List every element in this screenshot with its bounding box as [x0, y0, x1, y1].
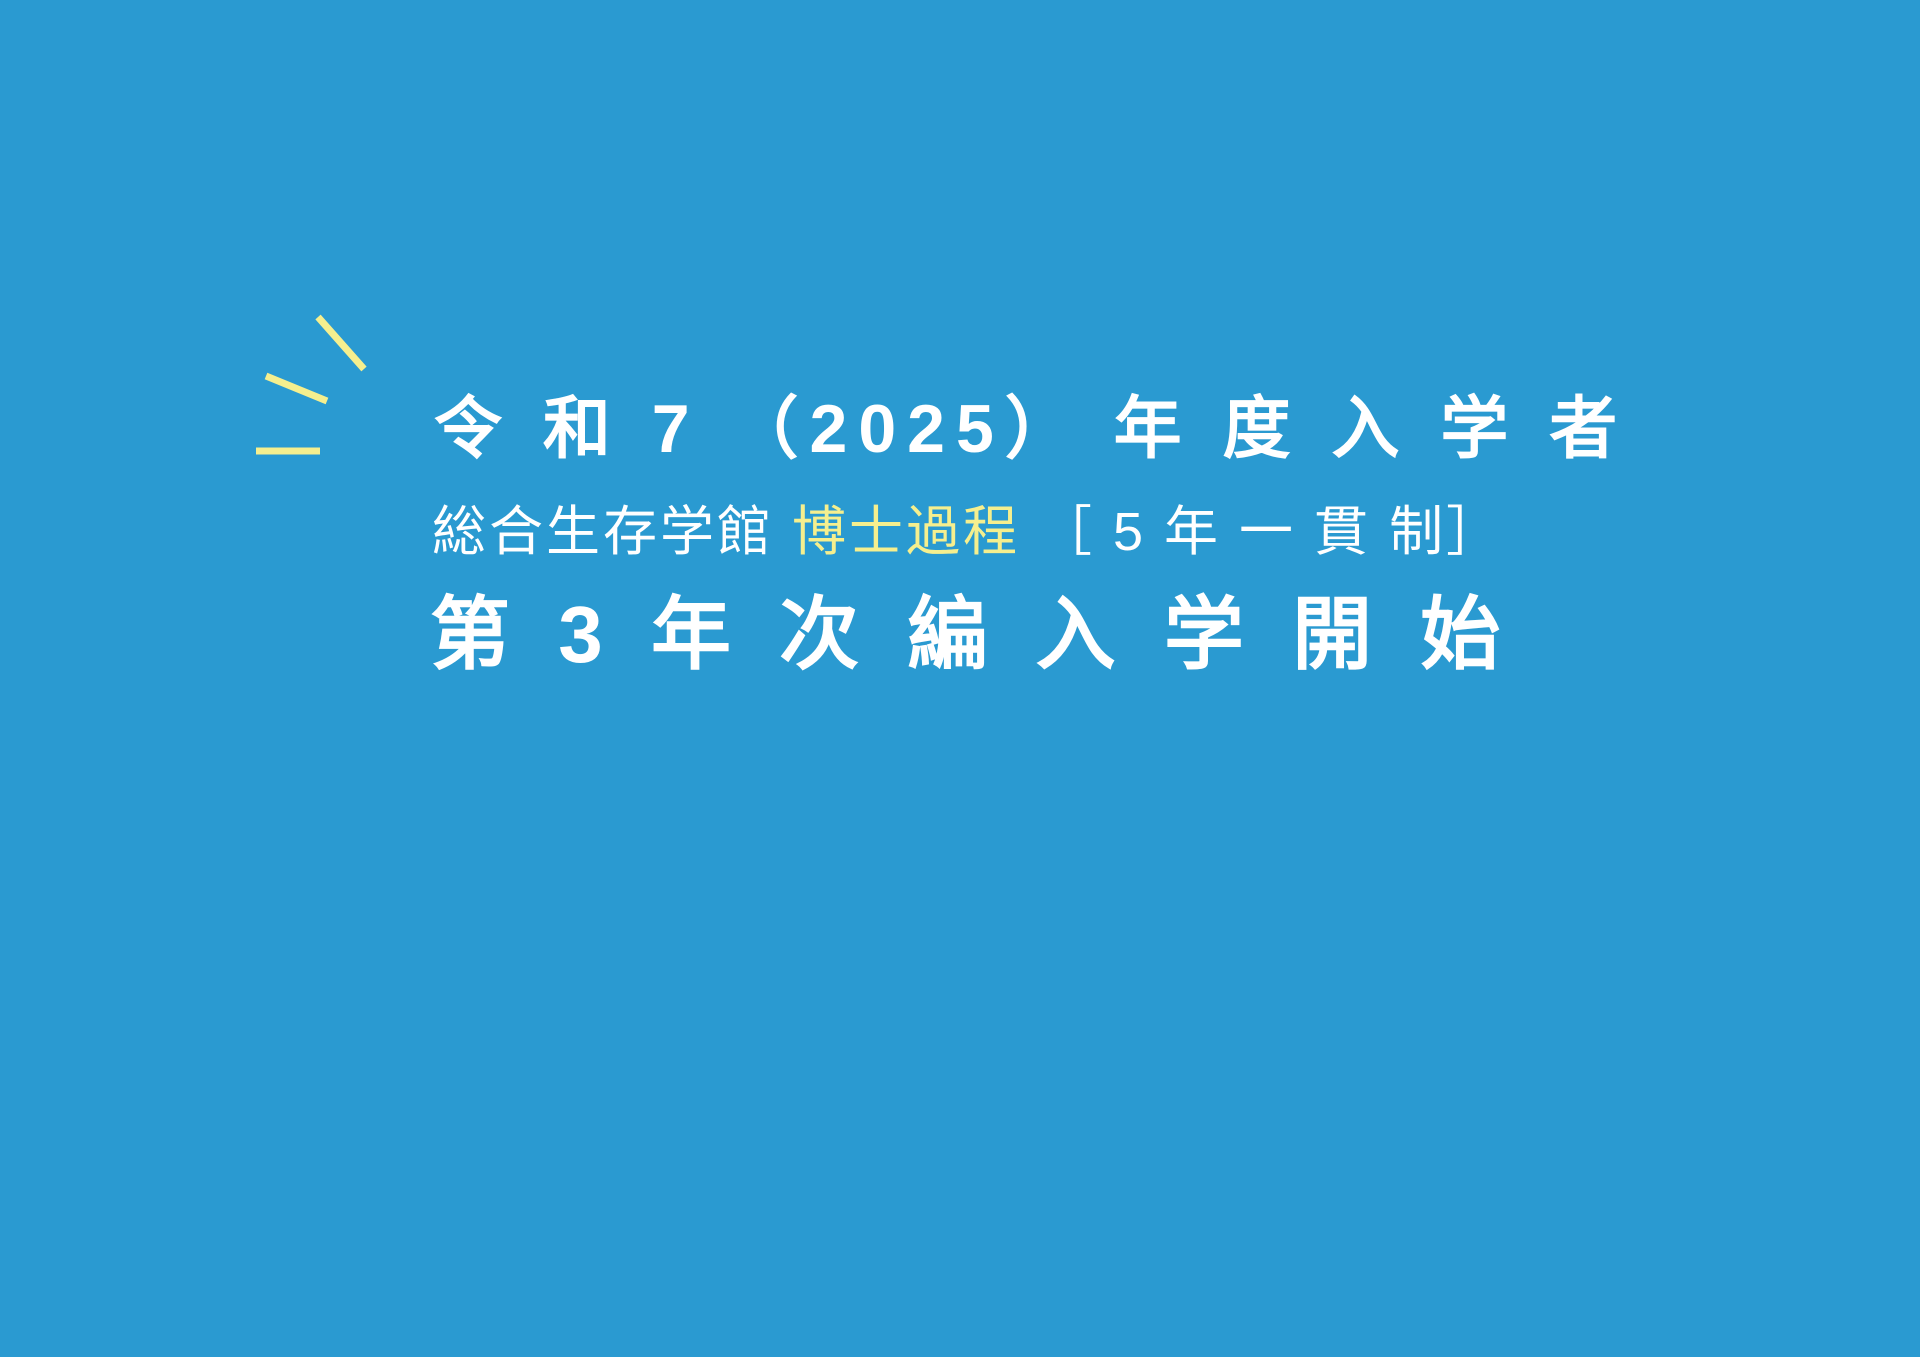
- dash-diagonal-steep-icon: [318, 317, 364, 369]
- program-school-label: 総合生存学館: [432, 502, 792, 562]
- promo-banner: 令 和 7 （2025） 年 度 入 学 者 総合生存学館 博士過程 ［ 5 年…: [0, 0, 1920, 1357]
- program-degree-highlight: 博士過程: [792, 502, 1020, 562]
- dash-diagonal-shallow-icon: [266, 376, 327, 401]
- headline-line-program: 総合生存学館 博士過程 ［ 5 年 一 貫 制］: [430, 505, 1500, 559]
- headline-line-academic-year: 令 和 7 （2025） 年 度 入 学 者: [430, 395, 1500, 463]
- headline-block: 令 和 7 （2025） 年 度 入 学 者 総合生存学館 博士過程 ［ 5 年…: [430, 395, 1500, 675]
- headline-line-transfer-announcement: 第 3 年 次 編 入 学 開 始: [430, 595, 1500, 675]
- program-duration-label: ［ 5 年 一 貫 制］: [1020, 502, 1503, 562]
